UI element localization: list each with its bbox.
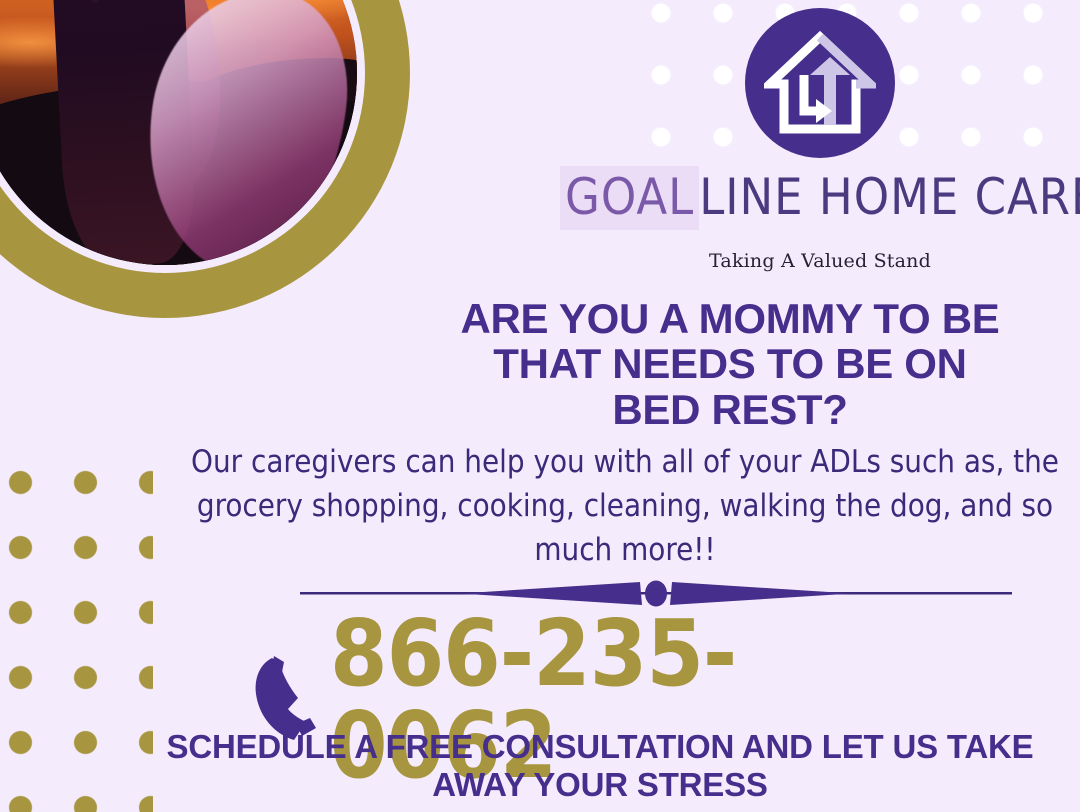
house-with-arrows-icon bbox=[745, 8, 895, 158]
wordmark-rest: LINE HOME CARE bbox=[699, 168, 1080, 226]
belly-shape bbox=[77, 0, 109, 3]
cta-line-1: SCHEDULE A FREE CONSULTATION AND LET US … bbox=[140, 728, 1060, 766]
wordmark-goal: GOAL bbox=[560, 166, 699, 230]
flyer-canvas: GOALLINE HOME CARE Taking A Valued Stand… bbox=[0, 0, 1080, 812]
cta-line-2: AWAY YOUR STRESS bbox=[140, 766, 1060, 804]
headline-line-2: THAT NEEDS TO BE ON bbox=[396, 341, 1064, 386]
gold-ring bbox=[0, 0, 410, 318]
brand-block: GOALLINE HOME CARE Taking A Valued Stand bbox=[560, 0, 1080, 272]
headline-line-3: BED REST? bbox=[396, 387, 1064, 432]
gold-dot-grid bbox=[0, 450, 153, 812]
hero-photo bbox=[0, 0, 357, 265]
body-copy: Our caregivers can help you with all of … bbox=[186, 440, 1064, 572]
wordmark: GOALLINE HOME CARE bbox=[560, 172, 1080, 222]
cta-text: SCHEDULE A FREE CONSULTATION AND LET US … bbox=[140, 728, 1060, 805]
tagline: Taking A Valued Stand bbox=[560, 250, 1080, 272]
page-title: ARE YOU A MOMMY TO BE THAT NEEDS TO BE O… bbox=[396, 296, 1064, 432]
headline-line-1: ARE YOU A MOMMY TO BE bbox=[396, 296, 1064, 341]
